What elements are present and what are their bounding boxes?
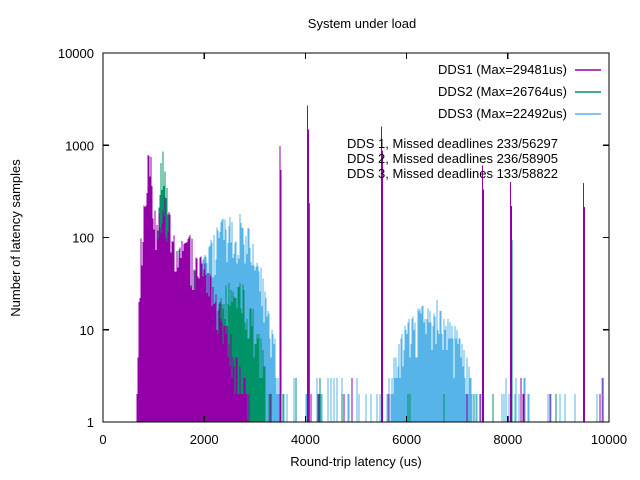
y-tick-label: 1 — [87, 415, 94, 430]
y-axis-label: Number of latency samples — [8, 159, 23, 317]
y-tick-label: 100 — [72, 231, 94, 246]
annotation-line: DDS 2, Missed deadlines 236/58905 — [347, 151, 558, 166]
y-tick-label: 1000 — [65, 138, 94, 153]
annotation-line: DDS 3, Missed deadlines 133/58822 — [347, 166, 558, 181]
x-axis-label: Round-trip latency (us) — [290, 454, 422, 469]
annotation-line: DDS 1, Missed deadlines 233/56297 — [347, 136, 558, 151]
x-tick-label: 8000 — [493, 432, 522, 447]
legend-label-DDS1: DDS1 (Max=29481us) — [438, 62, 567, 77]
missed-deadlines-annotation: DDS 1, Missed deadlines 233/56297DDS 2, … — [347, 136, 558, 181]
chart-title: System under load — [308, 16, 416, 31]
y-tick-label: 10 — [80, 323, 94, 338]
x-tick-label: 10000 — [591, 432, 627, 447]
legend-label-DDS3: DDS3 (Max=22492us) — [438, 106, 567, 121]
latency-histogram-chart: System under load Number of latency samp… — [0, 0, 640, 480]
x-tick-label: 0 — [99, 432, 106, 447]
y-tick-label: 10000 — [58, 46, 94, 61]
chart-container: System under load Number of latency samp… — [0, 0, 640, 480]
x-tick-label: 2000 — [190, 432, 219, 447]
legend-label-DDS2: DDS2 (Max=26764us) — [438, 84, 567, 99]
x-tick-label: 6000 — [392, 432, 421, 447]
x-tick-label: 4000 — [291, 432, 320, 447]
